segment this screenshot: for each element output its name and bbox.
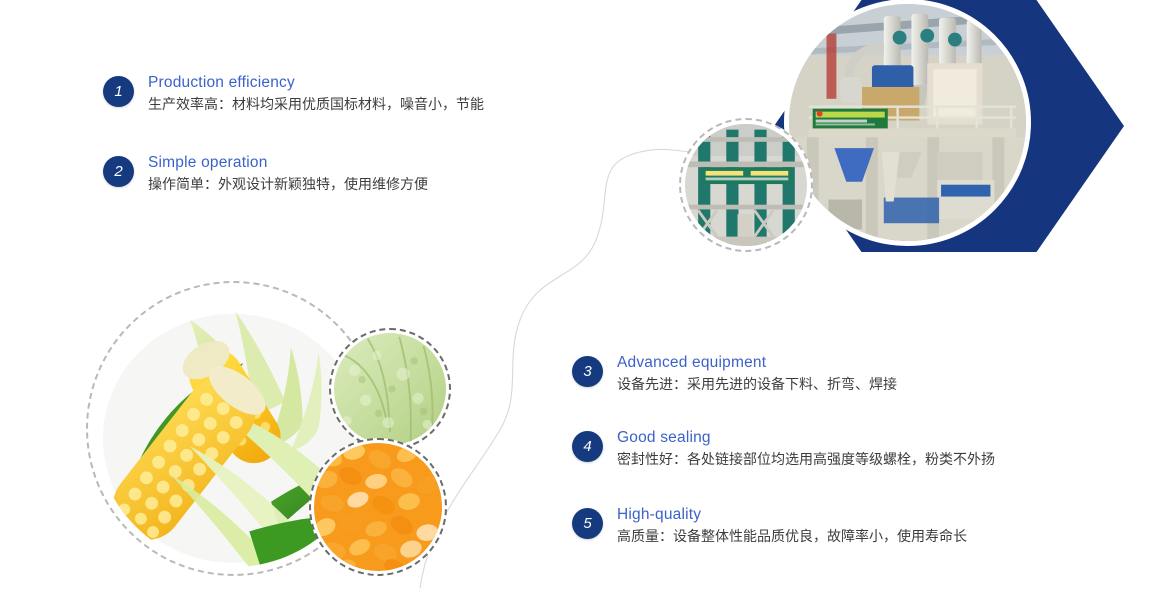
feature-item-5[interactable]: 5 High-quality 高质量：设备整体性能品质优良，故障率小，使用寿命长 (572, 508, 967, 547)
green-milling-machinery-photo (679, 118, 813, 252)
produce-photo-cluster (80, 275, 480, 591)
feature-title-1: Production efficiency (148, 73, 484, 93)
feature-badge-4: 4 (572, 431, 603, 462)
feature-description-3: 设备先进：采用先进的设备下料、折弯、焊接 (617, 374, 897, 395)
green-corn-flour-photo (329, 328, 451, 450)
feature-description-5: 高质量：设备整体性能品质优良，故障率小，使用寿命长 (617, 526, 967, 547)
feature-badge-1: 1 (103, 76, 134, 107)
feature-title-2: Simple operation (148, 153, 428, 173)
corn-grits-art (314, 443, 442, 571)
machinery-photo-art (685, 124, 807, 246)
plant-photo-art (789, 4, 1026, 241)
feature-title-3: Advanced equipment (617, 353, 897, 373)
hexagon-photo-cluster (662, 0, 1154, 284)
feature-title-4: Good sealing (617, 428, 995, 448)
feature-item-2[interactable]: 2 Simple operation 操作简单：外观设计新颖独特，使用维修方便 (103, 156, 428, 195)
feature-description-1: 生产效率高：材料均采用优质国标材料，噪音小，节能 (148, 94, 484, 115)
feature-description-2: 操作简单：外观设计新颖独特，使用维修方便 (148, 174, 428, 195)
feature-badge-3: 3 (572, 356, 603, 387)
corn-grits-photo (309, 438, 447, 576)
feature-badge-5: 5 (572, 508, 603, 539)
flour-milling-plant-photo (784, 0, 1031, 246)
feature-description-4: 密封性好：各处链接部位均选用高强度等级螺栓，粉类不外扬 (617, 449, 995, 470)
feature-badge-2: 2 (103, 156, 134, 187)
feature-item-3[interactable]: 3 Advanced equipment 设备先进：采用先进的设备下料、折弯、焊… (572, 356, 897, 395)
feature-item-4[interactable]: 4 Good sealing 密封性好：各处链接部位均选用高强度等级螺栓，粉类不… (572, 431, 995, 470)
feature-title-5: High-quality (617, 505, 967, 525)
green-flour-art (334, 333, 446, 445)
feature-item-1[interactable]: 1 Production efficiency 生产效率高：材料均采用优质国标材… (103, 76, 484, 115)
infographic-canvas: 1 Production efficiency 生产效率高：材料均采用优质国标材… (0, 0, 1154, 591)
